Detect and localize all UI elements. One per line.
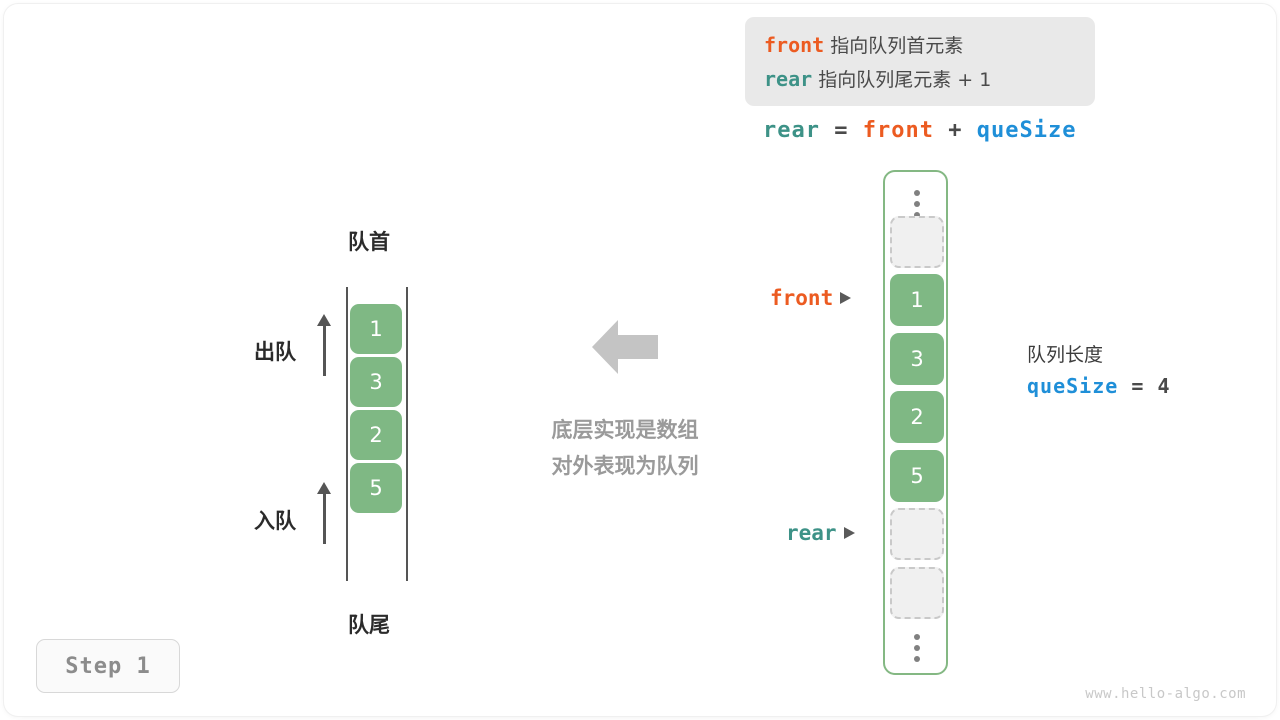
queue-tail-label: 队尾 xyxy=(348,609,390,639)
quesize-note: 队列长度 queSize = 4 xyxy=(1027,340,1170,402)
queue-cell-0: 1 xyxy=(350,304,402,354)
pointer-definition-box: front 指向队列首元素 rear 指向队列尾元素 + 1 xyxy=(745,17,1095,106)
caption-line-1: 底层实现是数组 xyxy=(528,412,722,448)
rear-description: 指向队列尾元素 + 1 xyxy=(818,69,991,91)
formula-front: front xyxy=(863,118,934,143)
array-slot-3: 5 xyxy=(890,450,944,502)
quesize-note-title: 队列长度 xyxy=(1027,340,1170,370)
queue-head-label: 队首 xyxy=(348,226,390,256)
rear-formula: rear = front + queSize xyxy=(763,118,1076,143)
diagram-caption: 底层实现是数组 对外表现为队列 xyxy=(528,412,722,484)
formula-quesize: queSize xyxy=(977,118,1077,143)
queue-cell-1: 3 xyxy=(350,357,402,407)
array-slot-0: 1 xyxy=(890,274,944,326)
array-slot-1: 3 xyxy=(890,333,944,385)
rear-keyword: rear xyxy=(764,67,812,91)
diagram-canvas: front 指向队列首元素 rear 指向队列尾元素 + 1 rear = fr… xyxy=(0,0,1280,720)
array-slot-ellipsis-bottom xyxy=(890,622,944,674)
front-caret-icon xyxy=(840,292,851,304)
queue-cell-3: 5 xyxy=(350,463,402,513)
formula-equals: = xyxy=(834,118,848,143)
step-badge: Step 1 xyxy=(36,639,180,693)
caption-line-2: 对外表现为队列 xyxy=(528,448,722,484)
dequeue-label: 出队 xyxy=(254,336,296,366)
array-slot-empty-2 xyxy=(890,567,944,619)
left-arrow-icon xyxy=(592,318,658,376)
quesize-note-expression: queSize = 4 xyxy=(1027,370,1170,402)
front-pointer-text: front xyxy=(770,286,833,310)
queue-rail-left xyxy=(346,287,348,581)
rear-caret-icon xyxy=(844,527,855,539)
dequeue-arrow-icon xyxy=(315,314,335,376)
queue-cell-2: 2 xyxy=(350,410,402,460)
array-slot-2: 2 xyxy=(890,391,944,443)
quesize-name: queSize xyxy=(1027,374,1118,398)
formula-rear: rear xyxy=(763,118,820,143)
array-slot-empty-1 xyxy=(890,508,944,560)
front-pointer-label: front xyxy=(770,286,851,310)
enqueue-label: 入队 xyxy=(254,505,296,535)
formula-plus: + xyxy=(948,118,962,143)
front-keyword: front xyxy=(764,33,824,57)
queue-rail-right xyxy=(406,287,408,581)
info-line-rear: rear 指向队列尾元素 + 1 xyxy=(764,63,1095,97)
quesize-value: 4 xyxy=(1157,374,1170,398)
array-slot-empty-0 xyxy=(890,216,944,268)
info-line-front: front 指向队列首元素 xyxy=(764,29,1095,63)
enqueue-arrow-icon xyxy=(315,482,335,544)
quesize-equals: = xyxy=(1131,374,1144,398)
watermark: www.hello-algo.com xyxy=(1085,686,1246,702)
rear-pointer-text: rear xyxy=(786,521,837,545)
rear-pointer-label: rear xyxy=(786,521,855,545)
array-container: 1 3 2 5 xyxy=(883,170,948,675)
front-description: 指向队列首元素 xyxy=(830,35,963,57)
